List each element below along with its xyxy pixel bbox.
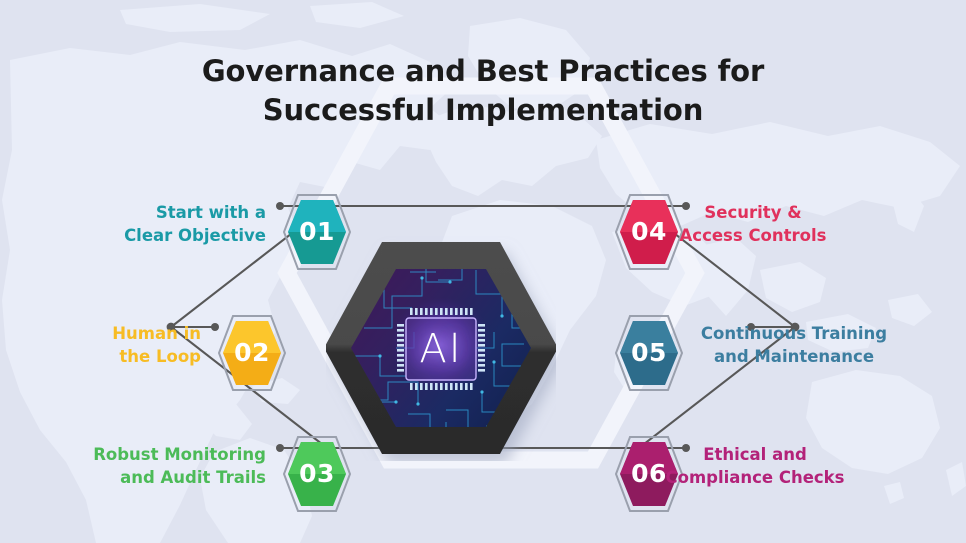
label-01-line-1: Start with a — [86, 201, 266, 224]
label-06: Ethical and Compliance Checks — [622, 443, 888, 490]
label-01-line-2: Clear Objective — [86, 224, 266, 247]
label-03-line-1: Robust Monitoring — [54, 443, 266, 466]
label-04-line-1: Security & — [638, 201, 868, 224]
label-04-line-2: Access Controls — [638, 224, 868, 247]
badge-03[interactable]: 03 — [280, 433, 354, 515]
title-line-1: Governance and Best Practices for — [0, 52, 966, 91]
badge-02[interactable]: 02 — [215, 312, 289, 394]
title-line-2: Successful Implementation — [0, 91, 966, 130]
page-title: Governance and Best Practices for Succes… — [0, 52, 966, 131]
label-05-line-1: Continuous Training — [684, 322, 904, 345]
label-02-line-1: Human in — [56, 322, 201, 345]
label-01: Start with a Clear Objective — [86, 201, 266, 248]
label-02: Human in the Loop — [56, 322, 201, 369]
badge-05[interactable]: 05 — [612, 312, 686, 394]
center-ai-emblem — [326, 236, 556, 461]
infographic-canvas: Governance and Best Practices for Succes… — [0, 0, 966, 543]
label-04: Security & Access Controls — [638, 201, 868, 248]
label-06-line-1: Ethical and — [622, 443, 888, 466]
cpu-chip — [397, 308, 485, 390]
label-03-line-2: and Audit Trails — [54, 466, 266, 489]
badge-01[interactable]: 01 — [280, 191, 354, 273]
label-05: Continuous Training and Maintenance — [684, 322, 904, 369]
label-06-line-2: Compliance Checks — [622, 466, 888, 489]
label-02-line-2: the Loop — [56, 345, 201, 368]
label-03: Robust Monitoring and Audit Trails — [54, 443, 266, 490]
label-05-line-2: and Maintenance — [684, 345, 904, 368]
